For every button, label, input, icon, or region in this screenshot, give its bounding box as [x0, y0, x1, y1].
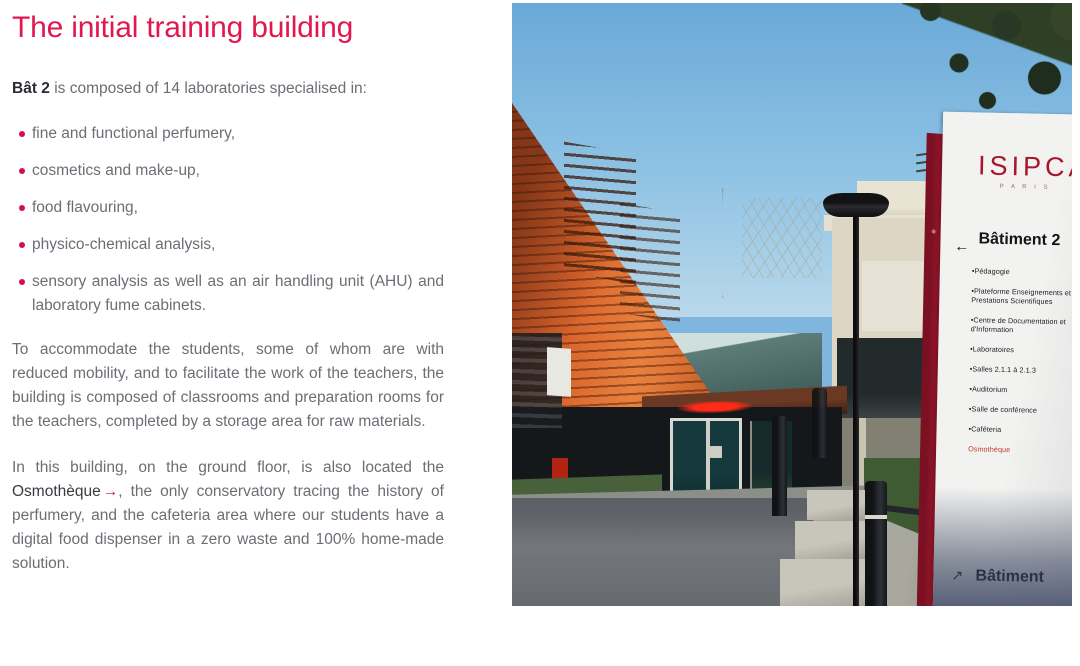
totem-fixing-dot — [932, 229, 936, 233]
lamp-post-pole — [853, 208, 859, 606]
sign-list-item: Salles 2.1.1 à 2.1.3 — [970, 364, 1072, 375]
list-item: food flavouring, — [12, 196, 444, 220]
sign-heading-batiment-secondary: Bâtiment — [975, 567, 1044, 586]
totem-front-face: ISIPCA P A R I S ← Bâtiment 2 Pédagogie … — [933, 112, 1072, 606]
intro-strong-label: Bât 2 — [12, 80, 50, 97]
isipca-logo: ISIPCA — [978, 150, 1072, 183]
osmotheque-link-label: Osmothèque — [12, 483, 101, 500]
sign-list-item: Auditorium — [969, 384, 1072, 395]
campus-photo: ISIPCA P A R I S ← Bâtiment 2 Pédagogie … — [512, 3, 1072, 606]
arrow-left-icon: ← — [954, 238, 969, 255]
paragraph-text-before-link: In this building, on the ground floor, i… — [12, 459, 444, 476]
list-item: fine and functional perfumery, — [12, 122, 444, 146]
sign-heading-batiment-2: Bâtiment 2 — [978, 230, 1060, 250]
page-title: The initial training building — [12, 0, 444, 48]
page-root: The initial training building Bât 2 is c… — [0, 0, 1080, 666]
bollard — [812, 388, 827, 458]
arrow-up-right-icon: ↗ — [951, 567, 963, 584]
sign-list-item: Caféteria — [968, 424, 1072, 435]
sign-facilities-list: Pédagogie Plateforme Enseignements et Pr… — [968, 266, 1072, 466]
lamp-post-head — [823, 193, 889, 217]
intro-paragraph: Bât 2 is composed of 14 laboratories spe… — [12, 48, 444, 100]
accommodation-paragraph: To accommodate the students, some of who… — [12, 318, 444, 434]
list-item: physico-chemical analysis, — [12, 233, 444, 257]
article-text-column: The initial training building Bât 2 is c… — [12, 0, 444, 576]
facade-vent-panel — [620, 203, 680, 324]
sign-list-item-osmotheque: Osmothèque — [968, 444, 1072, 455]
list-item: sensory analysis as well as an air handl… — [12, 270, 444, 318]
bollard-reflective-band — [865, 515, 887, 519]
ground-floor-paragraph: In this building, on the ground floor, i… — [12, 434, 444, 576]
arrow-right-icon: → — [101, 483, 119, 500]
isipca-logo-subtitle: P A R I S — [1000, 184, 1051, 191]
signage-totem: ISIPCA P A R I S ← Bâtiment 2 Pédagogie … — [917, 111, 1072, 606]
tree-foliage — [902, 3, 1072, 123]
list-item: cosmetics and make-up, — [12, 159, 444, 183]
wall-noticeboard — [547, 347, 571, 397]
bollard — [865, 481, 887, 606]
osmotheque-link[interactable]: Osmothèque→ — [12, 483, 118, 500]
door-access-plate — [710, 446, 722, 458]
neon-sign — [678, 400, 752, 415]
sign-list-item: Centre de Documentation et d'Information — [971, 315, 1072, 335]
intro-rest-label: is composed of 14 laboratories specialis… — [50, 80, 367, 97]
sign-list-item: Laboratoires — [970, 344, 1072, 355]
sign-list-item: Pédagogie — [972, 266, 1072, 277]
sign-list-item: Salle de conférence — [969, 404, 1072, 415]
bollard — [772, 416, 787, 516]
laboratories-list: fine and functional perfumery, cosmetics… — [12, 100, 444, 318]
sign-list-item: Plateforme Enseignements et Prestations … — [971, 286, 1072, 306]
